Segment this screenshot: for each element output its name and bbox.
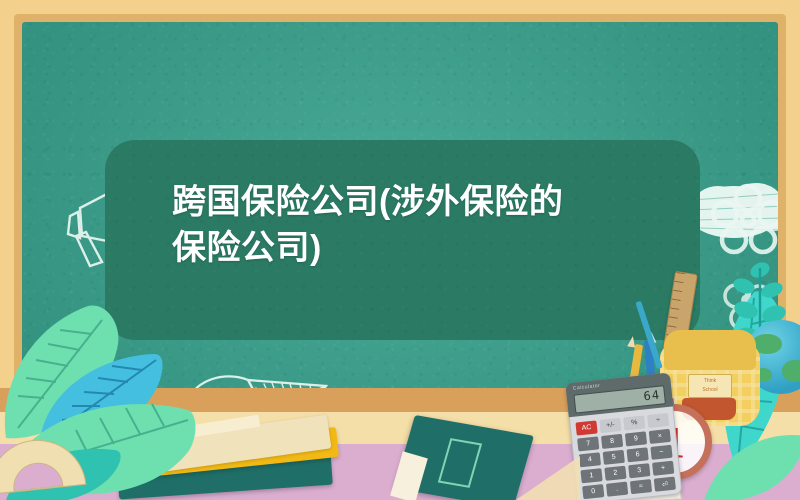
calculator: Calculator 64 AC+/-%÷789×456−123+0.=⏎	[565, 373, 682, 500]
pencil-yellow-tip	[627, 335, 637, 347]
calculator-key[interactable]: 5	[603, 450, 625, 465]
calculator-key[interactable]: AC	[575, 420, 597, 435]
calculator-key[interactable]: 3	[628, 463, 650, 478]
page-title: 跨国保险公司(涉外保险的 保险公司)	[172, 180, 642, 271]
calculator-key[interactable]: +/-	[599, 418, 621, 433]
calculator-keypad[interactable]: AC+/-%÷789×456−123+0.=⏎	[575, 413, 676, 499]
calculator-key[interactable]: ×	[649, 429, 671, 444]
calculator-key[interactable]: −	[650, 445, 672, 460]
calculator-key[interactable]: 1	[580, 468, 602, 483]
calculator-key[interactable]: 9	[625, 431, 647, 446]
backpack-flap	[664, 330, 756, 370]
calculator-key[interactable]: ⏎	[654, 477, 676, 492]
triangle-ruler-icon	[516, 456, 580, 500]
backpack-label: Think School	[688, 374, 732, 398]
calculator-key[interactable]: 6	[627, 447, 649, 462]
calculator-key[interactable]: +	[652, 461, 674, 476]
calculator-key[interactable]: ÷	[647, 413, 669, 428]
calculator-key[interactable]: 2	[604, 466, 626, 481]
calculator-key[interactable]: 8	[601, 434, 623, 449]
poster-canvas: 跨国保险公司(涉外保险的 保险公司)	[0, 0, 800, 500]
leaf-mint-bottom-right	[700, 430, 800, 500]
calculator-key[interactable]: =	[630, 479, 652, 494]
calculator-key[interactable]: %	[623, 415, 645, 430]
calculator-key[interactable]: .	[606, 482, 628, 497]
protractor-inner	[11, 460, 63, 491]
calculator-key[interactable]: 0	[582, 484, 604, 499]
calculator-key[interactable]: 4	[579, 452, 601, 467]
calculator-key[interactable]: 7	[577, 436, 599, 451]
